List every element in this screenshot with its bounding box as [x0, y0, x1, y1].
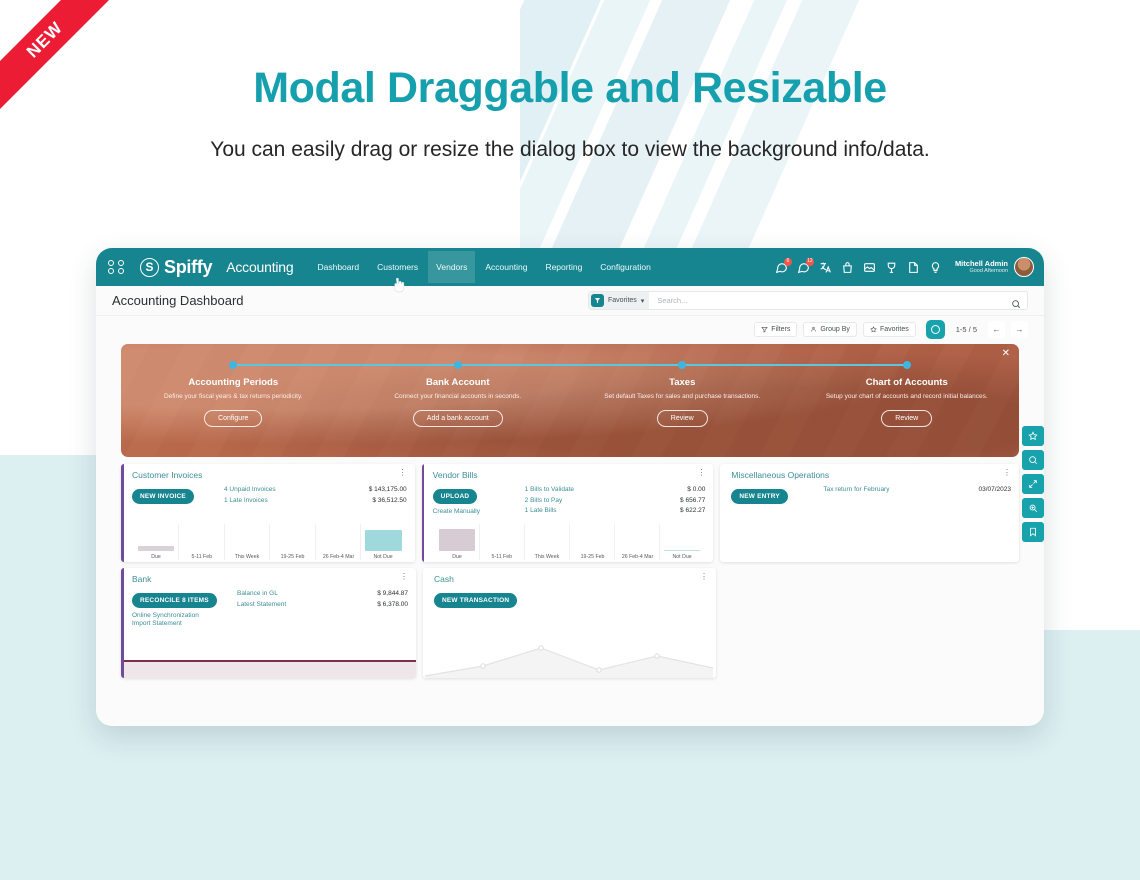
- stat-value: $ 0.00: [687, 485, 705, 496]
- stat-row: Tax return for February 03/07/2023: [823, 485, 1011, 496]
- spiffy-mark-icon: S: [140, 258, 159, 277]
- chevron-down-icon[interactable]: ▾: [641, 297, 645, 305]
- bookmark-icon[interactable]: [1022, 522, 1044, 542]
- navbar: S Spiffy Accounting Dashboard Customers …: [96, 248, 1044, 286]
- star-icon[interactable]: [1022, 426, 1044, 446]
- step-description: Define your fiscal years & tax returns p…: [121, 392, 346, 401]
- stat-value: $ 36,512.50: [372, 496, 406, 507]
- bar-label: This Week: [235, 554, 260, 560]
- bar-label: 19-25 Feb: [580, 554, 604, 560]
- trophy-icon[interactable]: [885, 261, 898, 274]
- avatar[interactable]: [1014, 257, 1034, 277]
- kebab-menu-icon[interactable]: ⋮: [400, 574, 408, 580]
- page-subtitle: You can easily drag or resize the dialog…: [0, 135, 1140, 165]
- stat-row: 1 Late Invoices $ 36,512.50: [224, 496, 407, 507]
- onboarding-step-taxes[interactable]: Taxes Set default Taxes for sales and pu…: [570, 361, 795, 457]
- card-miscellaneous-operations[interactable]: Miscellaneous Operations ⋮ NEW ENTRY Tax…: [720, 464, 1019, 562]
- pager-next-button[interactable]: →: [1011, 321, 1028, 338]
- onboarding-step-chart-of-accounts[interactable]: Chart of Accounts Setup your chart of ac…: [795, 361, 1020, 457]
- search-favorites-facet[interactable]: Favorites ▾: [589, 292, 649, 309]
- kebab-menu-icon[interactable]: ⋮: [700, 574, 708, 580]
- gallery-icon[interactable]: [863, 261, 876, 274]
- tax-return-label[interactable]: Tax return for February: [823, 485, 889, 496]
- pager-previous-button[interactable]: ←: [988, 321, 1005, 338]
- headline-block: Modal Draggable and Resizable You can ea…: [0, 64, 1140, 165]
- stat-value: $ 9,844.87: [377, 589, 408, 600]
- nav-item-reporting[interactable]: Reporting: [537, 251, 590, 283]
- configure-button[interactable]: Configure: [204, 410, 262, 427]
- pager-count[interactable]: 1-5 / 5: [956, 325, 977, 334]
- bar-label: Not Due: [374, 554, 393, 560]
- stat-value: $ 6,378.00: [377, 600, 408, 611]
- card-vendor-bills[interactable]: Vendor Bills ⋮ UPLOAD Create Manually 1 …: [422, 464, 714, 562]
- new-entry-button[interactable]: NEW ENTRY: [731, 489, 788, 504]
- stat-value: $ 622.27: [680, 506, 705, 517]
- bar-label: Due: [151, 554, 161, 560]
- control-panel-top: Accounting Dashboard Favorites ▾ Search.…: [96, 286, 1044, 316]
- kanban-view-button[interactable]: [926, 320, 945, 339]
- stat-value: $ 656.77: [680, 496, 705, 507]
- step-dot-icon: [678, 361, 686, 369]
- activities-icon[interactable]: 12: [797, 261, 810, 274]
- lightbulb-icon[interactable]: [929, 261, 942, 274]
- search-icon[interactable]: [1011, 296, 1021, 306]
- card-row-top: Customer Invoices ⋮ NEW INVOICE 4 Unpaid…: [121, 464, 1019, 562]
- step-connector: [795, 364, 907, 366]
- nav-item-accounting[interactable]: Accounting: [477, 251, 535, 283]
- kebab-menu-icon[interactable]: ⋮: [697, 470, 705, 476]
- group-by-icon: [810, 326, 817, 333]
- upload-button[interactable]: UPLOAD: [433, 489, 478, 504]
- bar-label: 26 Feb-4 Mar: [322, 554, 353, 560]
- bar-label: 19-25 Feb: [281, 554, 305, 560]
- stat-label[interactable]: 4 Unpaid Invoices: [224, 485, 276, 496]
- review-coa-button[interactable]: Review: [881, 410, 932, 427]
- nav-item-vendors[interactable]: Vendors: [428, 251, 475, 283]
- shop-icon[interactable]: [841, 261, 854, 274]
- brand-logo[interactable]: S Spiffy: [140, 257, 212, 278]
- step-connector: [233, 364, 345, 366]
- step-description: Connect your financial accounts in secon…: [346, 392, 571, 401]
- search-icon[interactable]: [1022, 450, 1044, 470]
- stat-label[interactable]: 2 Bills to Pay: [525, 496, 563, 507]
- messages-icon[interactable]: 6: [775, 261, 788, 274]
- card-cash[interactable]: Cash ⋮ NEW TRANSACTION: [423, 568, 716, 678]
- card-title: Vendor Bills: [433, 470, 478, 480]
- navbar-right: 6 12: [775, 257, 1034, 277]
- stat-label[interactable]: 1 Bills to Validate: [525, 485, 574, 496]
- stat-label[interactable]: 1 Late Invoices: [224, 496, 268, 507]
- step-title: Bank Account: [346, 377, 571, 388]
- stat-row: 4 Unpaid Invoices $ 143,175.00: [224, 485, 407, 496]
- nav-item-dashboard[interactable]: Dashboard: [309, 251, 367, 283]
- onboarding-step-accounting-periods[interactable]: Accounting Periods Define your fiscal ye…: [121, 361, 346, 457]
- search-input[interactable]: Search...: [649, 296, 1011, 305]
- nav-item-configuration[interactable]: Configuration: [592, 251, 659, 283]
- user-menu[interactable]: Mitchell Admin Good Afternoon: [955, 257, 1034, 277]
- note-icon[interactable]: [907, 261, 920, 274]
- side-action-bar: [1022, 426, 1044, 542]
- filters-label: Filters: [771, 326, 790, 333]
- bar-label: 5-11 Feb: [492, 554, 513, 560]
- customer-invoices-bar-chart: Due 5-11 Feb This Week 19-25 Feb 26 Feb-…: [125, 524, 415, 560]
- favorites-button[interactable]: Favorites: [863, 322, 916, 337]
- card-title: Miscellaneous Operations: [731, 470, 829, 480]
- kebab-menu-icon[interactable]: ⋮: [399, 470, 407, 476]
- onboarding-step-bank-account[interactable]: Bank Account Connect your financial acco…: [346, 361, 571, 457]
- dashboard-cards: Customer Invoices ⋮ NEW INVOICE 4 Unpaid…: [96, 457, 1044, 678]
- card-bank[interactable]: Bank ⋮ RECONCILE 8 ITEMS Online Synchron…: [121, 568, 416, 678]
- page-title: Modal Draggable and Resizable: [0, 64, 1140, 113]
- stat-label[interactable]: Latest Statement: [237, 600, 286, 611]
- bar-label: 5-11 Feb: [191, 554, 212, 560]
- card-row-bottom: Bank ⋮ RECONCILE 8 ITEMS Online Synchron…: [121, 568, 1019, 678]
- review-taxes-button[interactable]: Review: [657, 410, 708, 427]
- brand-name: Spiffy: [164, 257, 212, 278]
- filter-icon: [761, 326, 768, 333]
- reconcile-items-button[interactable]: RECONCILE 8 ITEMS: [132, 593, 217, 608]
- stat-row: Balance in GL $ 9,844.87: [237, 589, 408, 600]
- zoom-icon[interactable]: [1022, 498, 1044, 518]
- new-ribbon: NEW: [0, 0, 120, 120]
- mouse-cursor-icon: [392, 278, 405, 296]
- onboarding-steps: Accounting Periods Define your fiscal ye…: [121, 344, 1019, 457]
- new-transaction-button[interactable]: NEW TRANSACTION: [434, 593, 517, 608]
- import-statement-link[interactable]: Import Statement: [132, 620, 237, 627]
- group-by-button[interactable]: Group By: [803, 322, 857, 337]
- online-synchronization-link[interactable]: Online Synchronization: [132, 612, 237, 619]
- onboarding-banner: ✕ Accounting Periods Define your fiscal …: [121, 344, 1019, 457]
- step-dot-icon: [229, 361, 237, 369]
- step-dot-icon: [454, 361, 462, 369]
- group-by-label: Group By: [820, 326, 850, 333]
- stat-row: Latest Statement $ 6,378.00: [237, 600, 408, 611]
- favorites-label: Favorites: [880, 326, 909, 333]
- step-title: Chart of Accounts: [795, 377, 1020, 388]
- step-title: Accounting Periods: [121, 377, 346, 388]
- stat-row: 2 Bills to Pay $ 656.77: [525, 496, 706, 507]
- apps-grid-icon[interactable]: [108, 260, 126, 274]
- step-description: Setup your chart of accounts and record …: [795, 392, 1020, 401]
- card-title: Customer Invoices: [132, 470, 202, 480]
- search-bar[interactable]: Favorites ▾ Search...: [588, 291, 1028, 310]
- navbar-app-title: Accounting: [226, 259, 293, 275]
- filter-funnel-icon: [591, 294, 604, 307]
- stat-value: $ 143,175.00: [369, 485, 407, 496]
- new-invoice-button[interactable]: NEW INVOICE: [132, 489, 194, 504]
- tax-return-date: 03/07/2023: [978, 485, 1011, 496]
- stat-row: 1 Late Bills $ 622.27: [525, 506, 706, 517]
- bar-label: Not Due: [673, 554, 692, 560]
- expand-icon[interactable]: [1022, 474, 1044, 494]
- breadcrumb-page-title: Accounting Dashboard: [112, 293, 244, 308]
- stat-label[interactable]: 1 Late Bills: [525, 506, 557, 517]
- new-ribbon-label: NEW: [0, 0, 120, 119]
- kebab-menu-icon[interactable]: ⋮: [1003, 470, 1011, 476]
- kanban-view-icon: [931, 325, 940, 334]
- control-panel-bottom: Filters Group By Favorites 1-5 / 5 ← →: [96, 316, 1044, 342]
- app-window: S Spiffy Accounting Dashboard Customers …: [96, 248, 1044, 726]
- card-title: Cash: [434, 574, 454, 584]
- cash-line-chart: [423, 632, 716, 678]
- step-dot-icon: [903, 361, 911, 369]
- activities-badge: 12: [806, 258, 814, 266]
- add-bank-account-button[interactable]: Add a bank account: [413, 410, 503, 427]
- bar-label: Due: [452, 554, 462, 560]
- card-title: Bank: [132, 574, 151, 584]
- step-title: Taxes: [570, 377, 795, 388]
- translate-icon[interactable]: [819, 261, 832, 274]
- close-icon[interactable]: ✕: [1002, 349, 1010, 359]
- stat-label[interactable]: Balance in GL: [237, 589, 278, 600]
- card-customer-invoices[interactable]: Customer Invoices ⋮ NEW INVOICE 4 Unpaid…: [121, 464, 415, 562]
- stat-row: 1 Bills to Validate $ 0.00: [525, 485, 706, 496]
- bank-progress-bar: [124, 660, 417, 678]
- user-name: Mitchell Admin: [955, 260, 1008, 269]
- navbar-menu: Dashboard Customers Vendors Accounting R…: [309, 251, 658, 283]
- bar-label: 26 Feb-4 Mar: [621, 554, 652, 560]
- star-icon: [870, 326, 877, 333]
- user-greeting: Good Afternoon: [955, 268, 1008, 274]
- filters-button[interactable]: Filters: [754, 322, 797, 337]
- bar-label: This Week: [535, 554, 560, 560]
- create-manually-link[interactable]: Create Manually: [433, 508, 525, 515]
- vendor-bills-bar-chart: Due 5-11 Feb This Week 19-25 Feb 26 Feb-…: [426, 524, 714, 560]
- step-description: Set default Taxes for sales and purchase…: [570, 392, 795, 401]
- messages-badge: 6: [784, 258, 792, 266]
- search-facet-label: Favorites: [608, 297, 637, 304]
